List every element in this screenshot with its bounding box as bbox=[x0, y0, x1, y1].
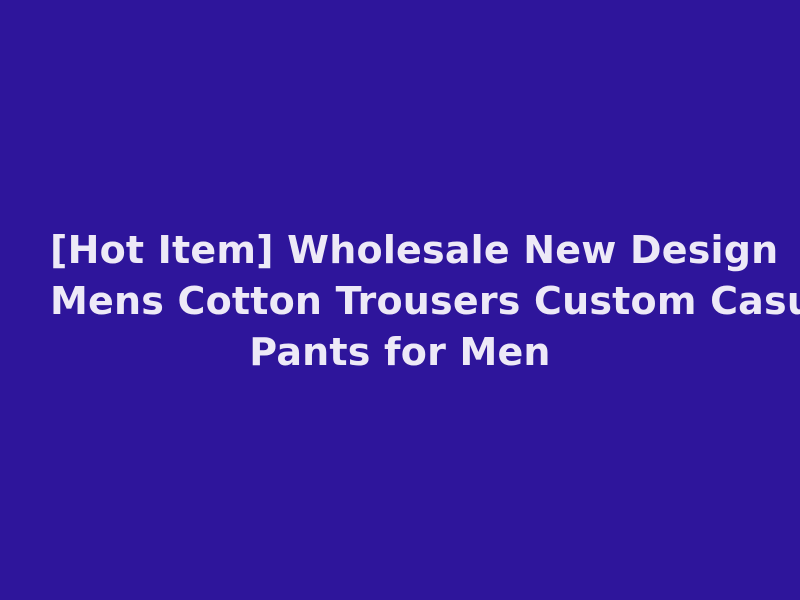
page-title: [Hot Item] Wholesale New Design Mens Cot… bbox=[50, 225, 750, 378]
page-title-line-1: [Hot Item] Wholesale New Design bbox=[50, 225, 750, 276]
page-title-line-3: Pants for Men bbox=[50, 327, 750, 378]
page-title-line-2: Mens Cotton Trousers Custom Casual bbox=[50, 276, 750, 327]
product-title-card: [Hot Item] Wholesale New Design Mens Cot… bbox=[0, 0, 800, 600]
